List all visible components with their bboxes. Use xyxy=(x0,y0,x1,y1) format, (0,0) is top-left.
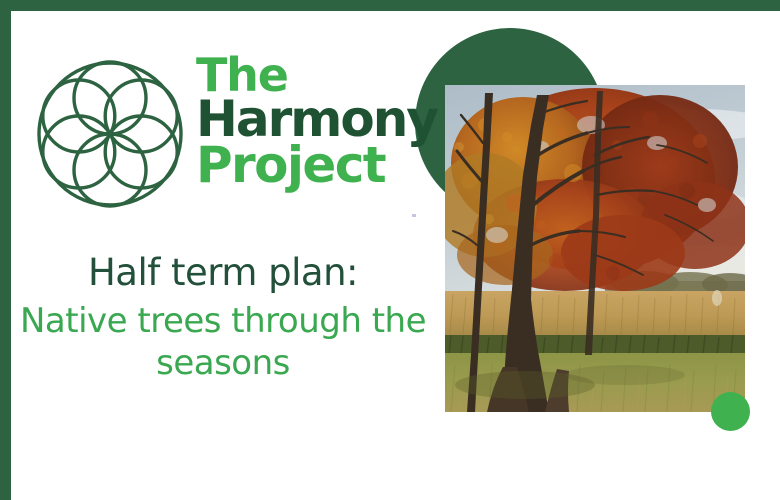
headline-secondary: Native trees through the seasons xyxy=(18,301,428,384)
rosette-flower-icon xyxy=(36,60,184,208)
frame-left-border xyxy=(0,0,11,500)
wordmark-line-project: Project xyxy=(196,142,466,188)
headline-block: Half term plan: Native trees through the… xyxy=(18,250,428,384)
decorative-small-circle xyxy=(711,392,750,431)
frame-top-border xyxy=(0,0,780,11)
autumn-tree-photo xyxy=(445,85,745,412)
poster-canvas: The Harmony Project Half term plan: Nati… xyxy=(0,0,780,500)
brand-logo[interactable]: The Harmony Project xyxy=(36,60,436,215)
headline-primary: Half term plan: xyxy=(18,250,428,295)
brand-wordmark: The Harmony Project xyxy=(196,54,466,188)
